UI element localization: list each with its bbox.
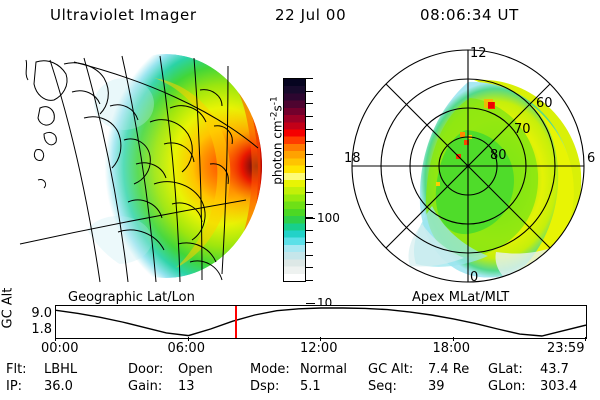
status-label: Dsp: [250,379,279,394]
polar-magnetic-panel[interactable]: 12 18 6 0 60 70 80 [348,40,600,292]
colorbar-tick [306,116,313,117]
polar-aurora-map [409,80,582,282]
colorbar-tick [306,179,313,180]
time-tick-label: 23:59 [547,341,584,356]
colorbar-tick [306,129,313,130]
status-label: Door: [128,362,163,377]
mlt-label-0: 0 [470,270,478,285]
gc-alt-ytick-top: 9.0 [18,306,52,321]
colorbar-tick-major [306,218,315,219]
colorbar-tick [306,91,313,92]
time-tick-label: 00:00 [41,341,78,356]
mlt-label-18: 18 [344,151,361,166]
mlat-label-70: 70 [514,122,531,137]
status-footer-row: Flt:LBHLDoor:OpenMode:NormalGC Alt:7.4 R… [0,362,600,379]
polar-panel-caption: Apex MLat/MLT [412,290,509,305]
time-tick-label: 18:00 [433,341,470,356]
geographic-panel-caption: Geographic Lat/Lon [68,290,195,305]
colorbar-tick [306,280,313,281]
status-value: 303.4 [540,379,577,394]
status-value: 43.7 [540,362,569,377]
polar-grid [352,50,584,282]
status-label: Gain: [128,379,162,394]
geographic-earth-disk [14,44,264,289]
colorbar-tick [306,267,313,268]
geographic-image-panel[interactable] [14,44,264,289]
status-label: GLat: [488,362,523,377]
status-value: 39 [428,379,445,394]
status-footer-row: IP:36.0Gain:13Dsp:5.1Seq:39GLon:303.4 [0,379,600,396]
status-label: Seq: [368,379,397,394]
colorbar-tick [306,78,313,79]
page-title: Ultraviolet Imager [50,6,197,24]
time-tick-label: 12:00 [300,341,337,356]
status-value: 36.0 [44,379,73,394]
colorbar-tick [306,166,313,167]
status-label: Flt: [6,362,27,377]
status-value: 7.4 Re [428,362,469,377]
gc-altitude-trace [56,306,586,338]
status-label: IP: [6,379,22,394]
mlt-label-12: 12 [470,46,487,61]
time-tick-label: 06:00 [168,341,205,356]
colorbar-label-100: 100 [317,213,340,223]
colorbar-tick [306,255,313,256]
current-time-marker[interactable] [235,306,237,338]
observation-time: 08:06:34 UT [420,6,519,24]
colorbar-tick [306,141,313,142]
colorbar-legend: photon cm-2s-1 100 10 [258,70,340,290]
time-tick [585,337,586,341]
gc-alt-ytick-bottom: 1.8 [18,322,52,337]
colorbar-tick [306,154,313,155]
colorbar-tick-major [306,303,315,304]
mlt-label-6: 6 [587,151,595,166]
status-label: GC Alt: [368,362,413,377]
observation-date: 22 Jul 00 [275,6,346,24]
colorbar-tick [306,230,313,231]
colorbar-gradient [284,79,305,281]
header-bar: Ultraviolet Imager 22 Jul 00 08:06:34 UT [0,6,600,28]
status-label: GLon: [488,379,526,394]
colorbar-tick [306,204,313,205]
colorbar-tick [306,103,313,104]
gc-alt-axis-title: GC Alt [1,289,16,329]
status-value: Normal [300,362,347,377]
status-label: Mode: [250,362,290,377]
colorbar-tick [306,242,313,243]
status-value: LBHL [44,362,77,377]
gc-altitude-strip-chart[interactable] [55,305,587,339]
status-value: 13 [178,379,195,394]
status-value: Open [178,362,213,377]
status-value: 5.1 [300,379,321,394]
colorbar-swatch [283,78,306,282]
mlat-label-80: 80 [490,148,507,163]
mlat-label-60: 60 [536,96,553,111]
colorbar-tick [306,192,313,193]
